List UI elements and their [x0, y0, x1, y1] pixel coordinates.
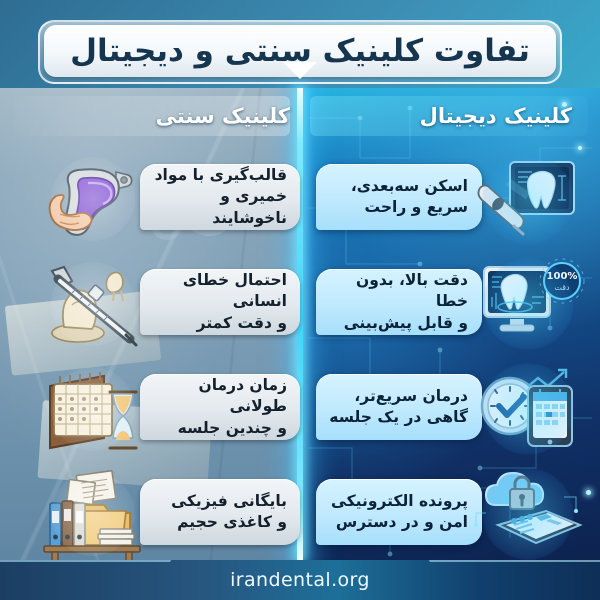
cloud-lock-tablet-record-icon — [470, 467, 586, 561]
row-label-traditional-line1: زمان درمان طولانی — [148, 375, 287, 418]
calendar-hourglass-icon — [38, 362, 148, 456]
row-label-digital: اسکن سه‌بعدی، سریع و راحت — [316, 164, 482, 230]
hand-impression-tray-icon — [38, 152, 148, 246]
comparison-row: بایگانی فیزیکی و کاغذی حجیم پرونده الکتر… — [0, 461, 600, 566]
row-label-digital-line2: سریع و راحت — [324, 197, 468, 218]
row-label-digital-line1: دقت بالا، بدون خطا — [324, 270, 468, 313]
column-header-digital-label: کلینیک دیجیتال — [420, 104, 572, 128]
row-label-traditional: قالب‌گیری با مواد خمیری و ناخوشایند — [140, 164, 300, 230]
row-label-traditional: احتمال خطای انسانی و دقت کمتر — [140, 269, 300, 335]
row-label-digital-line2: امن و در دسترس — [324, 512, 468, 533]
paper-archive-shelf-icon — [38, 467, 148, 561]
comparison-row: زمان درمان طولانی و چندین جلسه درمان سری… — [0, 356, 600, 461]
row-label-traditional: بایگانی فیزیکی و کاغذی حجیم — [140, 479, 300, 545]
monitor-tooth-accuracy-icon: 100% دقت — [470, 257, 586, 351]
row-label-traditional-line1: بایگانی فیزیکی — [148, 491, 287, 512]
row-label-digital-line1: اسکن سه‌بعدی، — [324, 176, 468, 197]
row-label-digital-line2: گاهی در یک جلسه — [324, 407, 468, 428]
row-label-traditional-line2: و چندین جلسه — [148, 418, 287, 439]
row-label-digital: دقت بالا، بدون خطا و قابل پیش‌بینی — [316, 269, 482, 335]
intraoral-scanner-icon — [470, 152, 586, 246]
caliper-plaster-model-icon — [38, 257, 148, 351]
row-label-digital: درمان سریع‌تر، گاهی در یک جلسه — [316, 374, 482, 440]
comparison-row: قالب‌گیری با مواد خمیری و ناخوشایند اسکن… — [0, 146, 600, 251]
column-header-traditional-label: کلینیک سنتی — [156, 104, 290, 128]
clock-check-tablet-calendar-icon — [470, 362, 586, 456]
row-label-traditional-line1: احتمال خطای انسانی — [148, 270, 287, 313]
infographic-poster: تفاوت کلینیک سنتی و دیجیتال کلینیک سنتی … — [0, 0, 600, 600]
column-header-traditional: کلینیک سنتی — [14, 96, 290, 136]
comparison-row: احتمال خطای انسانی و دقت کمتر دقت بالا، … — [0, 251, 600, 356]
row-label-traditional-line2: خمیری و ناخوشایند — [148, 186, 287, 229]
row-label-digital: پرونده الکترونیکی امن و در دسترس — [316, 479, 482, 545]
row-label-digital-line2: و قابل پیش‌بینی — [324, 313, 468, 334]
column-header-digital: کلینیک دیجیتال — [310, 96, 588, 136]
row-label-digital-line1: درمان سریع‌تر، — [324, 386, 468, 407]
row-label-digital-line1: پرونده الکترونیکی — [324, 491, 468, 512]
row-label-traditional: زمان درمان طولانی و چندین جلسه — [140, 374, 300, 440]
row-label-traditional-line2: و دقت کمتر — [148, 313, 287, 334]
footer-website-url: irandental.org — [230, 569, 370, 591]
footer-bar: irandental.org — [0, 560, 600, 600]
row-label-traditional-line1: قالب‌گیری با مواد — [148, 165, 287, 186]
row-label-traditional-line2: و کاغذی حجیم — [148, 512, 287, 533]
